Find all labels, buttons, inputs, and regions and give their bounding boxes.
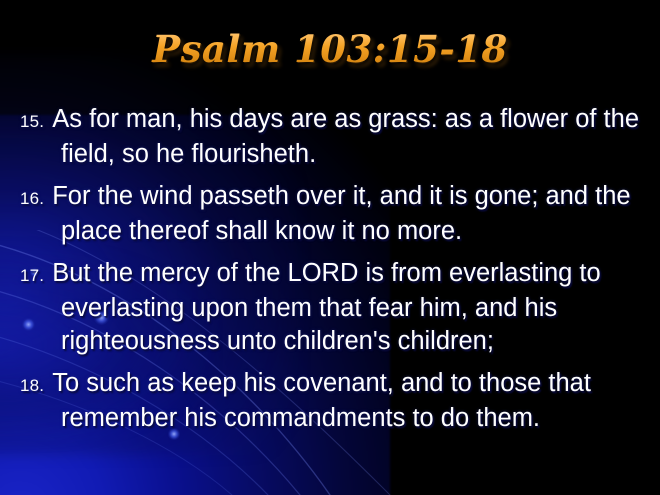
scripture-slide: Psalm 103:15-18 15.As for man, his days … xyxy=(0,0,660,495)
verse-body: As for man, his days are as grass: as a … xyxy=(52,105,639,168)
verse-number: 15. xyxy=(20,112,44,131)
verse-line: 15.As for man, his days are as grass: as… xyxy=(20,103,652,171)
verse-line: 16.For the wind passeth over it, and it … xyxy=(20,180,652,248)
verse-line: 17.But the mercy of the LORD is from eve… xyxy=(20,257,652,358)
slide-title: Psalm 103:15-18 xyxy=(0,27,660,71)
verse-item: 18.To such as keep his covenant, and to … xyxy=(0,367,660,435)
verse-line: 18.To such as keep his covenant, and to … xyxy=(20,367,652,435)
verse-number: 17. xyxy=(20,266,44,285)
verse-number: 16. xyxy=(20,189,44,208)
verse-body: To such as keep his covenant, and to tho… xyxy=(52,369,591,432)
verse-number: 18. xyxy=(20,376,44,395)
verse-item: 17.But the mercy of the LORD is from eve… xyxy=(0,257,660,358)
verse-body: For the wind passeth over it, and it is … xyxy=(52,182,630,245)
verse-list: 15.As for man, his days are as grass: as… xyxy=(0,103,660,444)
verse-body: But the mercy of the LORD is from everla… xyxy=(52,259,600,355)
verse-item: 15.As for man, his days are as grass: as… xyxy=(0,103,660,171)
verse-item: 16.For the wind passeth over it, and it … xyxy=(0,180,660,248)
